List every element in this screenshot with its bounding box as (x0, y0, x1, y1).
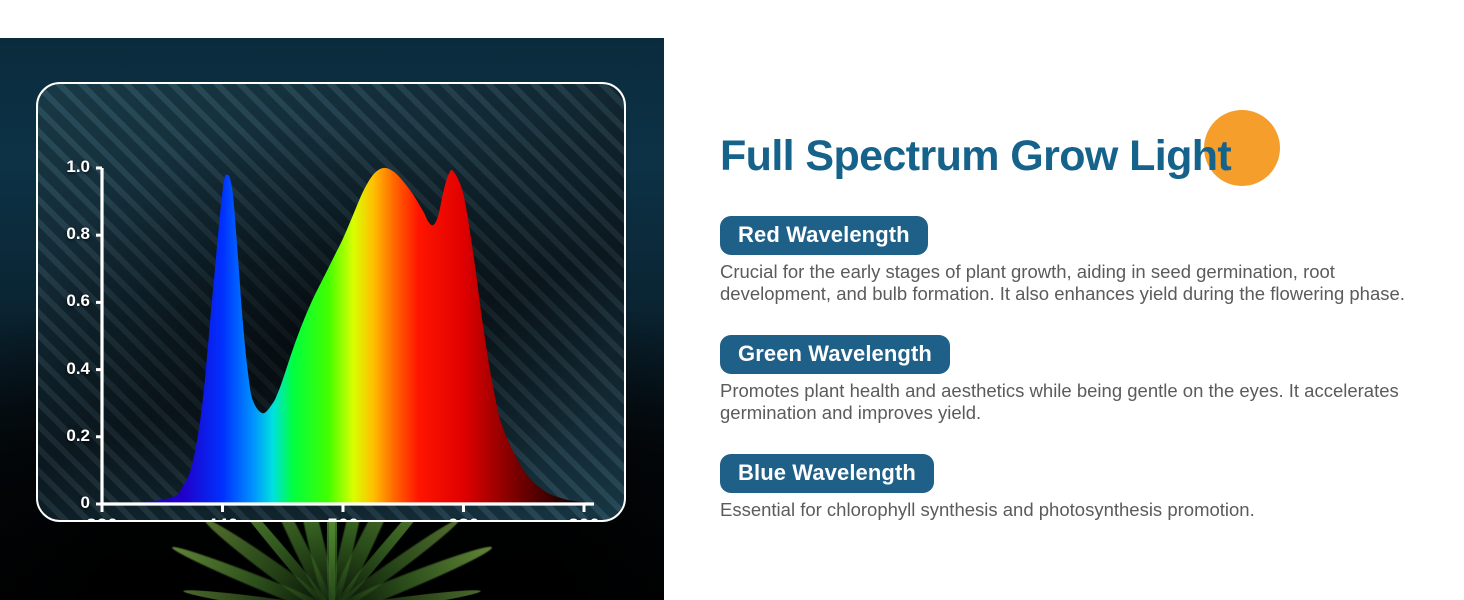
spectrum-chart: 00.20.40.60.81.0320440560680800 (38, 84, 624, 520)
y-tick-label: 0.2 (38, 426, 90, 446)
y-tick-label: 1.0 (38, 157, 90, 177)
y-tick-label: 0.6 (38, 291, 90, 311)
x-tick-label: 440 (183, 516, 263, 522)
page-title: Full Spectrum Grow Light (720, 135, 1231, 178)
x-tick-label: 320 (62, 516, 142, 522)
y-tick-label: 0 (38, 493, 90, 513)
plant-frond (329, 540, 495, 600)
content-panel: Full Spectrum Grow Light Red Wavelength … (664, 0, 1464, 600)
x-tick-label: 560 (303, 516, 383, 522)
x-tick-label: 800 (544, 516, 624, 522)
wavelength-section-list: Red Wavelength Crucial for the early sta… (720, 216, 1420, 530)
badge-green-wavelength: Green Wavelength (720, 335, 950, 374)
x-tick-label: 680 (424, 516, 504, 522)
spectrum-visual-panel: 00.20.40.60.81.0320440560680800 (0, 38, 664, 600)
y-tick-label: 0.8 (38, 224, 90, 244)
plant-frond (183, 586, 333, 600)
plant-frond (331, 586, 481, 600)
section-red-wavelength: Red Wavelength Crucial for the early sta… (720, 216, 1420, 305)
section-blue-wavelength: Blue Wavelength Essential for chlorophyl… (720, 454, 1420, 521)
section-body-green: Promotes plant health and aesthetics whi… (720, 380, 1410, 424)
plant-frond (170, 541, 335, 600)
badge-blue-wavelength: Blue Wavelength (720, 454, 934, 493)
spectrum-area (102, 168, 584, 504)
section-body-red: Crucial for the early stages of plant gr… (720, 261, 1410, 305)
spectrum-curve-svg (38, 84, 624, 520)
section-body-blue: Essential for chlorophyll synthesis and … (720, 499, 1410, 521)
badge-red-wavelength: Red Wavelength (720, 216, 928, 255)
section-green-wavelength: Green Wavelength Promotes plant health a… (720, 335, 1420, 424)
plant-frond (200, 513, 337, 600)
plant-frond (328, 514, 463, 600)
page-title-wrap: Full Spectrum Grow Light (720, 118, 1231, 194)
product-infographic: 00.20.40.60.81.0320440560680800 Full Spe… (0, 0, 1464, 600)
y-tick-label: 0.4 (38, 359, 90, 379)
spectrum-chart-card: 00.20.40.60.81.0320440560680800 (36, 82, 626, 522)
plant-stalk (329, 510, 335, 600)
